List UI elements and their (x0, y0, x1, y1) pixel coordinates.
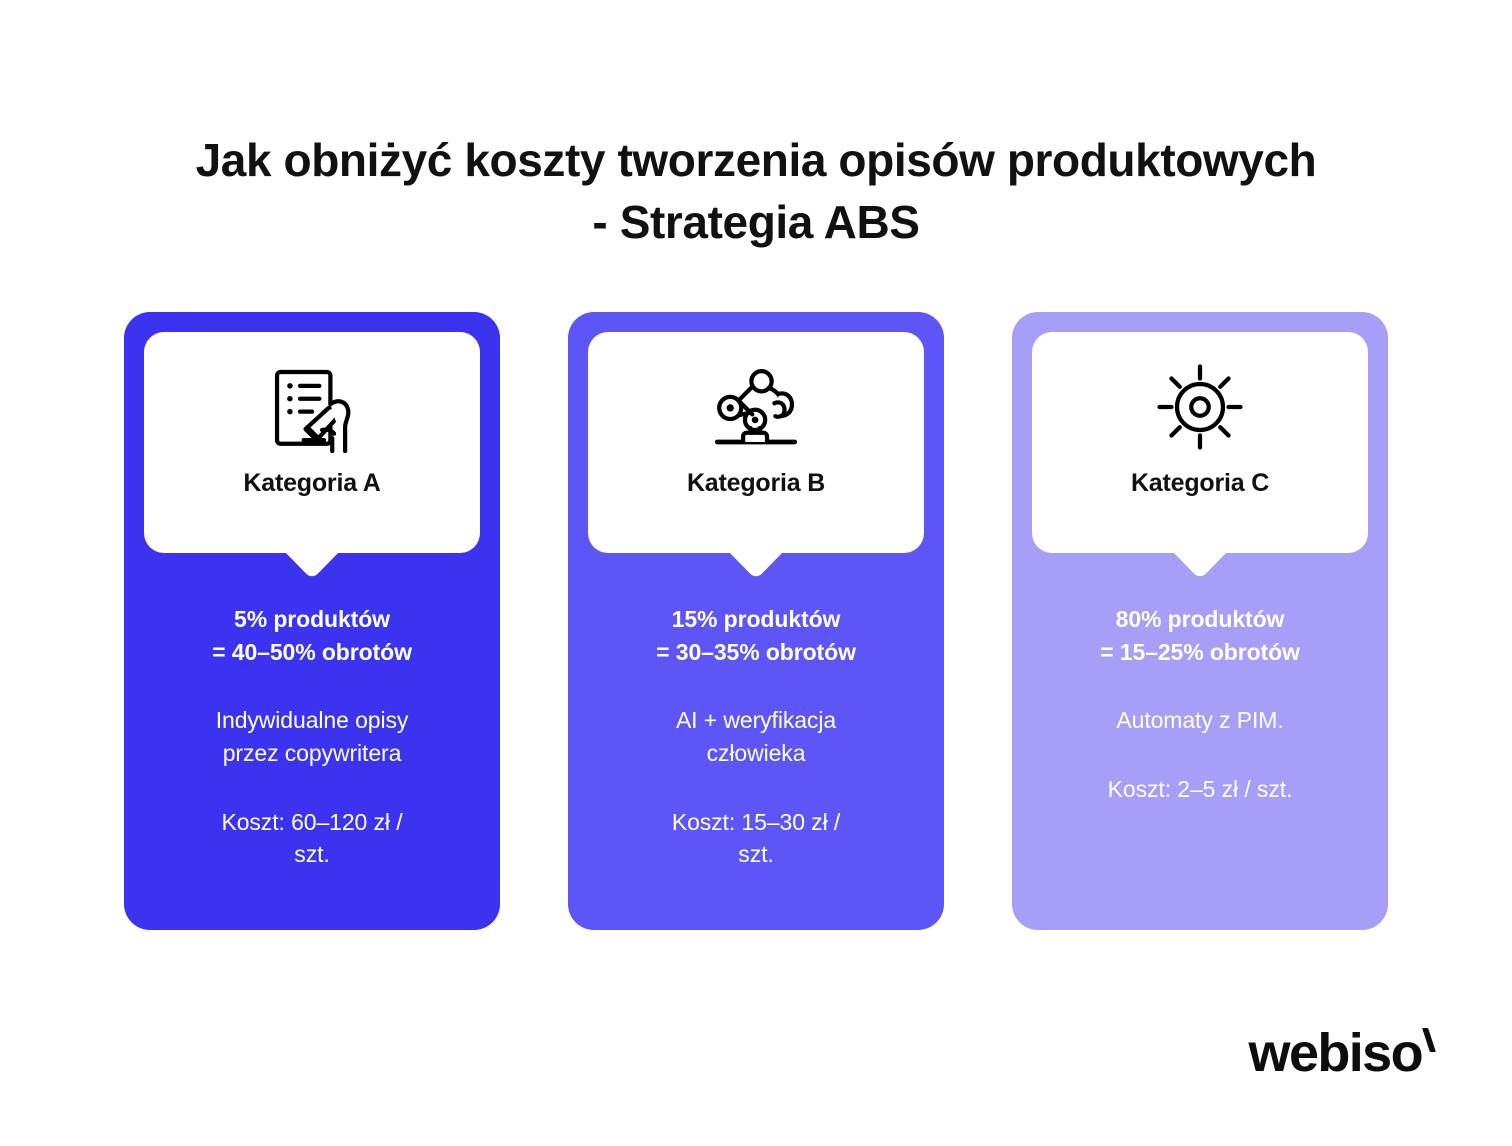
card-a-stat: 5% produktów = 40–50% obrotów (152, 603, 472, 668)
category-card-c: Kategoria C 80% produktów = 15–25% obrot… (1012, 312, 1388, 930)
logo-wordmark: webiso (1249, 1026, 1422, 1080)
logo-tick-icon (1423, 1028, 1436, 1054)
card-c-stat: 80% produktów = 15–25% obrotów (1040, 603, 1360, 668)
card-b-bubble-tail (728, 551, 784, 578)
webiso-logo: webiso (1249, 1026, 1436, 1080)
card-b-stat: 15% produktów = 30–35% obrotów (596, 603, 916, 668)
card-a-bubble: Kategoria A (144, 332, 480, 553)
card-b-bubble: Kategoria B (588, 332, 924, 553)
robotic-arm-icon (708, 359, 804, 455)
card-c-body: 80% produktów = 15–25% obrotów Automaty … (1032, 603, 1368, 806)
infographic-page: Jak obniżyć koszty tworzenia opisów prod… (0, 0, 1512, 1146)
card-a-body: 5% produktów = 40–50% obrotów Indywidual… (144, 603, 480, 871)
page-title: Jak obniżyć koszty tworzenia opisów prod… (0, 129, 1512, 254)
category-card-a: Kategoria A 5% produktów = 40–50% obrotó… (124, 312, 500, 930)
card-c-cost: Koszt: 2–5 zł / szt. (1040, 773, 1360, 806)
card-b-heading: Kategoria B (687, 469, 825, 498)
category-card-b: Kategoria B 15% produktów = 30–35% obrot… (568, 312, 944, 930)
card-c-description: Automaty z PIM. (1040, 704, 1360, 737)
card-b-cost: Koszt: 15–30 zł / szt. (596, 806, 916, 871)
category-cards-row: Kategoria A 5% produktów = 40–50% obrotó… (124, 312, 1388, 930)
card-b-body: 15% produktów = 30–35% obrotów AI + wery… (588, 603, 924, 871)
card-b-description: AI + weryfikacja człowieka (596, 704, 916, 769)
card-a-heading: Kategoria A (243, 469, 380, 498)
card-a-cost: Koszt: 60–120 zł / szt. (152, 806, 472, 871)
card-c-bubble: Kategoria C (1032, 332, 1368, 553)
card-a-bubble-tail (284, 551, 340, 578)
gear-cog-icon (1152, 359, 1248, 455)
card-a-description: Indywidualne opisy przez copywritera (152, 704, 472, 769)
card-c-bubble-tail (1172, 551, 1228, 578)
document-checklist-hand-pen-icon (264, 359, 360, 455)
card-c-heading: Kategoria C (1131, 469, 1269, 498)
